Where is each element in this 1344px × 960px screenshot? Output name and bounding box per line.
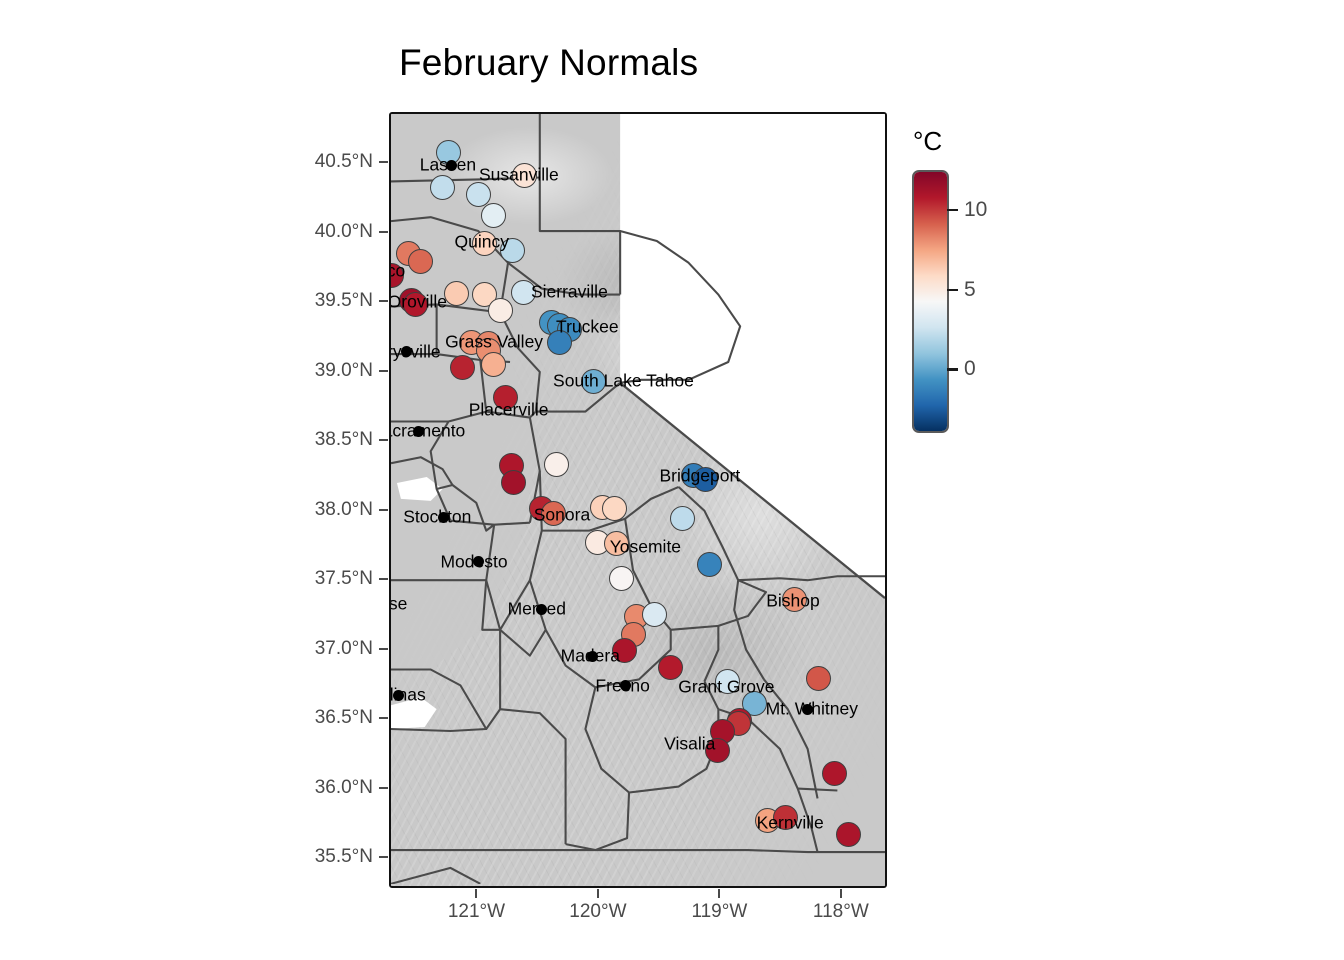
city-label: Quincy	[455, 231, 509, 252]
legend-tick-mark	[947, 368, 958, 371]
legend-title: °C	[913, 126, 942, 157]
latitude-tick-mark	[379, 648, 388, 650]
longitude-tick-label: 121°W	[448, 901, 505, 923]
city-label: Bridgeport	[659, 465, 740, 486]
latitude-tick-mark	[379, 300, 388, 302]
city-label: Grant Grove	[678, 676, 774, 697]
longitude-tick-mark	[597, 889, 599, 898]
city-label: Sonora	[534, 504, 590, 525]
longitude-tick-mark	[718, 889, 720, 898]
map-panel[interactable]: LassenSusanvilleQuincySierravilleTruckee…	[389, 112, 887, 888]
city-label: Mt. Whitney	[766, 699, 858, 720]
city-label: Placerville	[469, 400, 549, 421]
city-label: Bishop	[766, 590, 820, 611]
out-of-state-area-north	[620, 114, 885, 598]
city-label: Grass Valley	[445, 332, 543, 353]
legend-tick-label: 0	[964, 357, 976, 381]
city-label: Merced	[508, 599, 566, 620]
longitude-tick-label: 120°W	[569, 901, 626, 923]
longitude-tick-mark	[840, 889, 842, 898]
city-label: Modesto	[440, 551, 507, 572]
latitude-tick-label: 36.0°N	[0, 777, 373, 799]
city-label: Kernville	[757, 813, 824, 834]
latitude-tick-mark	[379, 161, 388, 163]
city-label: Fresno	[595, 675, 649, 696]
latitude-tick-mark	[379, 717, 388, 719]
city-label: Sierraville	[531, 282, 608, 303]
longitude-tick-mark	[475, 889, 477, 898]
legend-gradient	[914, 172, 947, 431]
station-marker[interactable]	[822, 761, 847, 786]
latitude-tick-label: 40.5°N	[0, 151, 373, 173]
city-label: Oroville	[389, 291, 447, 312]
city-label: South Lake Tahoe	[553, 371, 694, 392]
latitude-tick-mark	[379, 856, 388, 858]
latitude-tick-label: 38.5°N	[0, 429, 373, 451]
latitude-tick-label: 39.0°N	[0, 360, 373, 382]
station-marker[interactable]	[544, 452, 569, 477]
station-marker[interactable]	[806, 666, 831, 691]
station-marker[interactable]	[481, 352, 506, 377]
latitude-tick-mark	[379, 231, 388, 233]
city-label: Marysville	[389, 341, 441, 362]
boundaries-layer	[391, 114, 885, 884]
station-marker[interactable]	[481, 203, 506, 228]
city-label: Truckee	[556, 316, 619, 337]
city-label: Lassen	[420, 155, 476, 176]
latitude-tick-label: 39.5°N	[0, 290, 373, 312]
latitude-tick-mark	[379, 439, 388, 441]
latitude-tick-mark	[379, 509, 388, 511]
longitude-tick-label: 118°W	[813, 901, 869, 923]
city-label: Salinas	[389, 685, 426, 706]
latitude-tick-label: 37.5°N	[0, 568, 373, 590]
longitude-tick-label: 119°W	[691, 901, 747, 923]
station-marker[interactable]	[697, 552, 722, 577]
station-marker[interactable]	[444, 281, 469, 306]
legend-tick-mark	[947, 289, 958, 292]
latitude-tick-label: 37.0°N	[0, 638, 373, 660]
latitude-tick-label: 38.0°N	[0, 499, 373, 521]
station-marker[interactable]	[450, 355, 475, 380]
latitude-tick-label: 40.0°N	[0, 221, 373, 243]
legend-tick-mark	[947, 209, 958, 212]
station-marker[interactable]	[408, 249, 433, 274]
latitude-tick-mark	[379, 578, 388, 580]
city-label: San Jose	[389, 593, 407, 614]
city-label: Susanville	[479, 165, 559, 186]
station-marker[interactable]	[488, 298, 513, 323]
map-figure: February Normals 40.5°N40.0°N39.5°N39.0°…	[0, 0, 1344, 960]
city-label: Yosemite	[610, 536, 681, 557]
legend-tick-label: 5	[964, 278, 976, 302]
latitude-tick-mark	[379, 787, 388, 789]
legend-colorbar	[912, 170, 949, 433]
city-label: Chico	[389, 261, 405, 282]
page-title: February Normals	[399, 42, 698, 84]
latitude-tick-label: 35.5°N	[0, 846, 373, 868]
legend-tick-label: 10	[964, 198, 987, 222]
city-label: Stockton	[403, 507, 471, 528]
station-marker[interactable]	[430, 175, 455, 200]
city-label: Madera	[561, 646, 620, 667]
latitude-tick-label: 36.5°N	[0, 707, 373, 729]
city-label: Visalia	[664, 733, 715, 754]
latitude-tick-mark	[379, 370, 388, 372]
city-label: Sacramento	[389, 421, 465, 442]
